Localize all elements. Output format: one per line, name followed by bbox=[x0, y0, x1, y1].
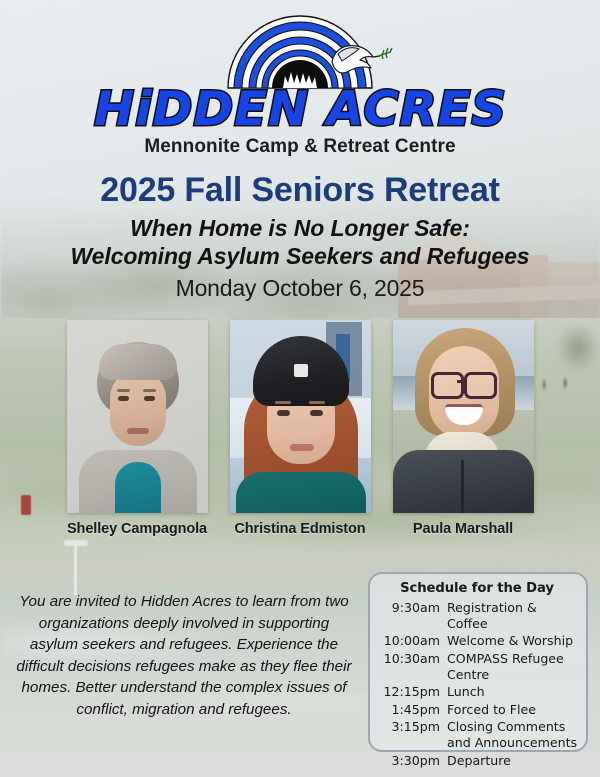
schedule-table: 9:30am Registration & Coffee 10:00am Wel… bbox=[376, 599, 578, 770]
speaker-photo-christina-edmiston bbox=[230, 320, 371, 513]
schedule-time: 9:30am bbox=[376, 599, 447, 633]
schedule-time: 3:30pm bbox=[376, 752, 447, 769]
schedule-panel: Schedule for the Day 9:30am Registration… bbox=[368, 572, 588, 752]
rainbow-dove-icon bbox=[200, 14, 400, 90]
event-date: Monday October 6, 2025 bbox=[0, 275, 600, 302]
speaker-names: Shelley Campagnola Christina Edmiston Pa… bbox=[0, 521, 600, 537]
schedule-event: Lunch bbox=[447, 684, 578, 701]
schedule-event: Registration & Coffee bbox=[447, 599, 578, 633]
page-subtitle: When Home is No Longer Safe: Welcoming A… bbox=[0, 214, 600, 270]
background-signpost bbox=[74, 545, 77, 595]
schedule-time: 12:15pm bbox=[376, 684, 447, 701]
speaker-name: Christina Edmiston bbox=[230, 521, 371, 537]
schedule-time: 10:00am bbox=[376, 633, 447, 650]
schedule-row: 9:30am Registration & Coffee bbox=[376, 599, 578, 633]
schedule-row: 10:00am Welcome & Worship bbox=[376, 633, 578, 650]
schedule-event: Closing Comments and Announcements bbox=[447, 719, 578, 753]
schedule-event: COMPASS Refugee Centre bbox=[447, 650, 578, 684]
speaker-photo-paula-marshall bbox=[393, 320, 534, 513]
schedule-rows: 9:30am Registration & Coffee 10:00am Wel… bbox=[376, 599, 578, 770]
schedule-time: 3:15pm bbox=[376, 719, 447, 753]
schedule-event: Welcome & Worship bbox=[447, 633, 578, 650]
logo-wordmark: HiDDEN ACRES bbox=[94, 86, 507, 133]
schedule-row: 3:30pm Departure bbox=[376, 752, 578, 769]
schedule-time: 10:30am bbox=[376, 650, 447, 684]
schedule-row: 1:45pm Forced to Flee bbox=[376, 701, 578, 718]
speaker-name: Paula Marshall bbox=[393, 521, 534, 537]
speaker-name: Shelley Campagnola bbox=[67, 521, 208, 537]
schedule-title: Schedule for the Day bbox=[376, 581, 578, 596]
schedule-event: Forced to Flee bbox=[447, 701, 578, 718]
schedule-row: 10:30am COMPASS Refugee Centre bbox=[376, 650, 578, 684]
invitation-text: You are invited to Hidden Acres to learn… bbox=[14, 591, 354, 720]
page-subtitle-line1: When Home is No Longer Safe: bbox=[0, 214, 600, 242]
page-subtitle-line2: Welcoming Asylum Seekers and Refugees bbox=[0, 242, 600, 270]
schedule-time: 1:45pm bbox=[376, 701, 447, 718]
schedule-event: Departure bbox=[447, 752, 578, 769]
page-title: 2025 Fall Seniors Retreat bbox=[0, 172, 600, 209]
logo-tagline: Mennonite Camp & Retreat Centre bbox=[144, 136, 455, 158]
retreat-poster: HiDDEN ACRES Mennonite Camp & Retreat Ce… bbox=[0, 0, 600, 777]
logo: HiDDEN ACRES Mennonite Camp & Retreat Ce… bbox=[0, 14, 600, 158]
speaker-photo-shelley-campagnola bbox=[67, 320, 208, 513]
speaker-photos bbox=[0, 320, 600, 513]
header-block: 2025 Fall Seniors Retreat When Home is N… bbox=[0, 172, 600, 302]
schedule-row: 12:15pm Lunch bbox=[376, 684, 578, 701]
schedule-row: 3:15pm Closing Comments and Announcement… bbox=[376, 719, 578, 753]
